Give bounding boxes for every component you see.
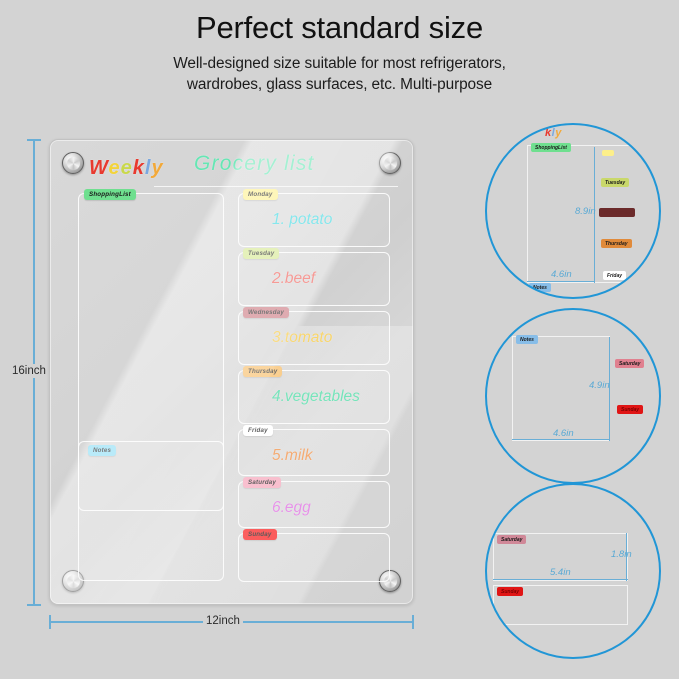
width-dimension-cap-right (412, 615, 414, 629)
callout2-circle-border (485, 308, 661, 484)
day-row-saturday[interactable] (238, 481, 390, 528)
height-dimension-cap-top (27, 139, 41, 141)
entry-saturday: 6.egg (272, 499, 311, 517)
height-dimension-label: 16inch (9, 364, 49, 378)
header-divider (154, 186, 398, 187)
day-row-sunday[interactable] (238, 533, 390, 582)
tag-shoppinglist: ShoppingList (84, 189, 136, 200)
entry-tuesday: 2.beef (272, 270, 315, 288)
screw-knob-top-right (379, 152, 401, 174)
day-row-friday[interactable] (238, 429, 390, 476)
subtitle-line-2: wardrobes, glass surfaces, etc. Multi-pu… (0, 74, 679, 95)
tag-friday: Friday (243, 425, 273, 436)
tag-wednesday: Wednesday (243, 307, 289, 318)
page-title: Perfect standard size (0, 0, 679, 49)
tag-monday: Monday (243, 189, 278, 200)
acrylic-board: Weekly Grocery list ShoppingList Notes M… (49, 139, 414, 605)
tag-sunday: Sunday (243, 529, 277, 540)
entry-wednesday: 3.tomato (272, 329, 332, 347)
width-dimension-cap-left (49, 615, 51, 629)
header: Perfect standard size Well-designed size… (0, 0, 679, 95)
tag-notes: Notes (88, 445, 116, 456)
notes-panel[interactable] (78, 441, 224, 581)
weekly-letter-3: k (133, 157, 145, 179)
width-dimension-label: 12inch (203, 614, 243, 628)
entry-thursday: 4.vegetables (272, 388, 360, 406)
entry-monday: 1. potato (272, 211, 332, 229)
board-title-weekly: Weekly (89, 157, 164, 180)
callout1-circle-border (485, 123, 661, 299)
callout3-circle-border (485, 483, 661, 659)
screw-knob-top-left (62, 152, 84, 174)
tag-tuesday: Tuesday (243, 248, 279, 259)
subtitle-line-1: Well-designed size suitable for most ref… (0, 53, 679, 74)
weekly-letter-2: e (121, 157, 133, 179)
infographic-page: Perfect standard size Well-designed size… (0, 0, 679, 679)
weekly-letter-0: W (89, 157, 109, 179)
tag-saturday: Saturday (243, 477, 281, 488)
weekly-letter-5: y (151, 157, 163, 179)
height-dimension-cap-bottom (27, 604, 41, 606)
page-subtitle: Well-designed size suitable for most ref… (0, 49, 679, 95)
tag-thursday: Thursday (243, 366, 282, 377)
board-title-grocery: Grocery list (194, 152, 315, 176)
weekly-letter-1: e (109, 157, 121, 179)
entry-friday: 5.milk (272, 447, 312, 465)
